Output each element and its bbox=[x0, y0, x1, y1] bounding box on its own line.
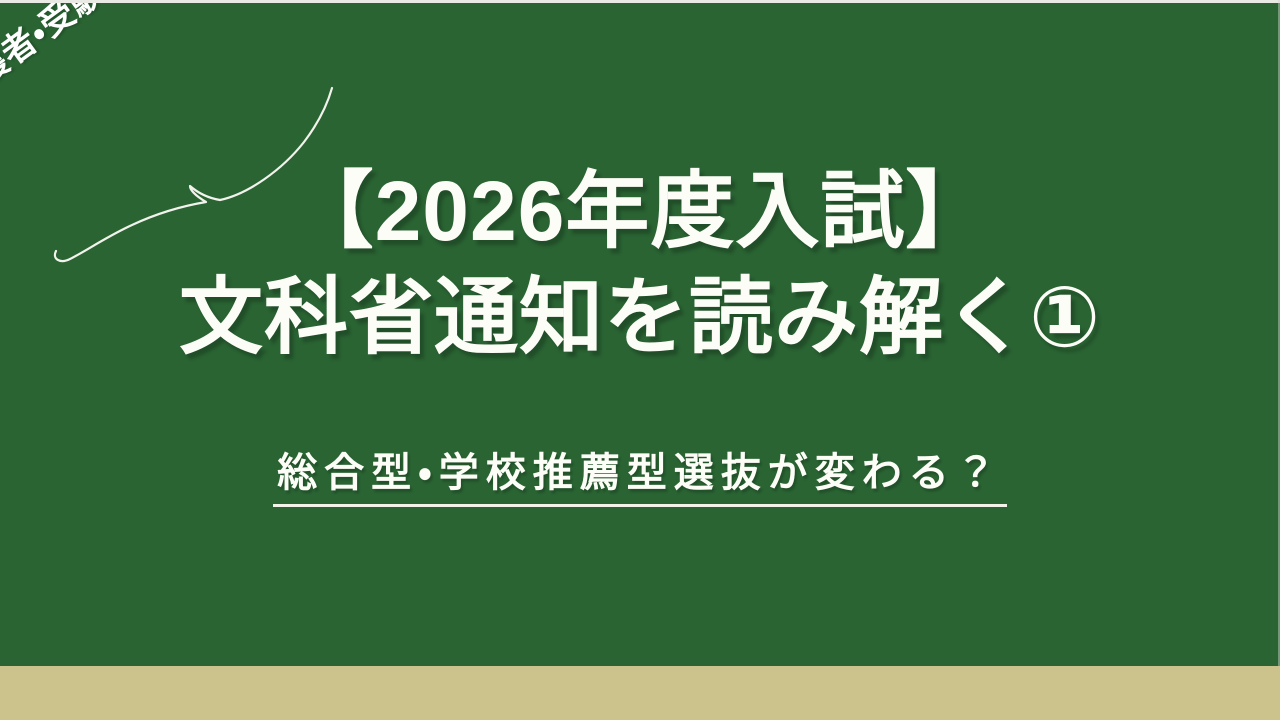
slide-canvas: 保護者・受験生必見 【2026年度入試】 文科省通知を読み解く① 総合型・学校推… bbox=[0, 0, 1280, 720]
headline-line-2: 文科省通知を読み解く① bbox=[0, 266, 1280, 368]
subtitle-block: 総合型・学校推薦型選抜が変わる？ bbox=[0, 448, 1280, 507]
headline-line-1: 【2026年度入試】 bbox=[0, 160, 1280, 262]
top-edge-line bbox=[0, 0, 1280, 3]
subtitle-text: 総合型・学校推薦型選抜が変わる？ bbox=[273, 448, 1007, 507]
headline-block: 【2026年度入試】 文科省通知を読み解く① bbox=[0, 160, 1280, 369]
footer-band bbox=[0, 666, 1280, 720]
